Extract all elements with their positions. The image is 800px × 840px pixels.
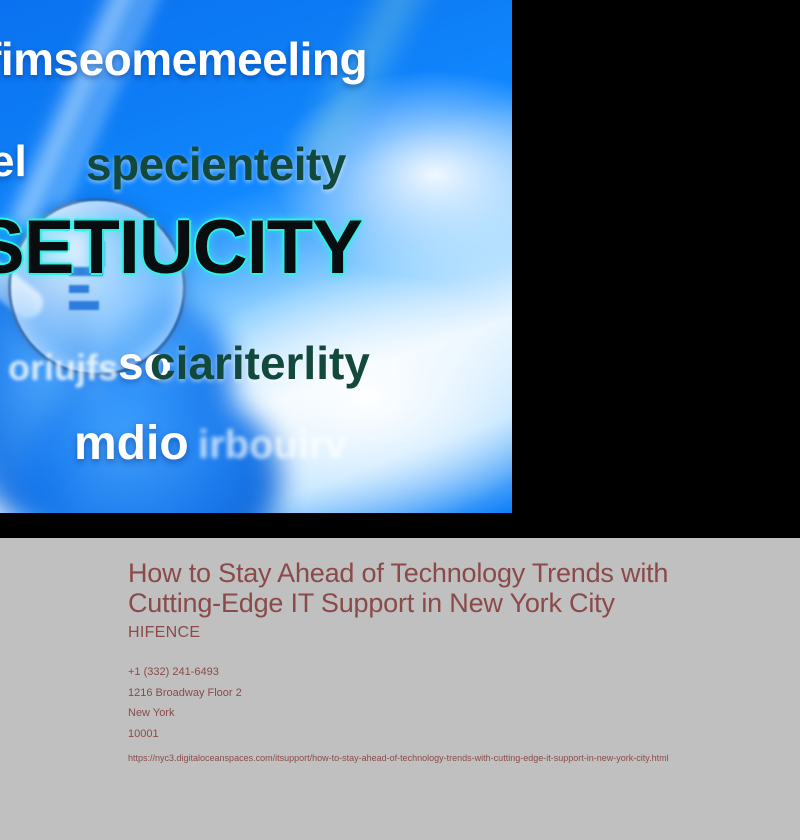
- hero-word-white-three: mdio: [74, 420, 189, 468]
- article-hero-image: fimseomemeeling el specienteity SETIUCIT…: [0, 0, 512, 513]
- contact-phone[interactable]: +1 (332) 241-6493: [128, 662, 740, 682]
- source-url-link[interactable]: https://nyc3.digitaloceanspaces.com/itsu…: [128, 750, 793, 767]
- hero-word-fragment: el: [0, 140, 27, 184]
- hero-word-top: fimseomemeeling: [0, 36, 367, 82]
- contact-postal-code: 10001: [128, 724, 740, 744]
- contact-street: 1216 Broadway Floor 2: [128, 683, 740, 703]
- hero-word-ghost-two: irbouirv: [198, 425, 347, 465]
- article-content-panel: How to Stay Ahead of Technology Trends w…: [0, 538, 800, 840]
- light-streak-icon: [48, 0, 190, 212]
- page-title: How to Stay Ahead of Technology Trends w…: [128, 558, 738, 618]
- contact-city: New York: [128, 703, 740, 723]
- hero-word-green-two: ciariterlity: [150, 340, 370, 386]
- hero-image-region: fimseomemeeling el specienteity SETIUCIT…: [0, 0, 800, 538]
- light-streak-icon: [285, 0, 445, 174]
- brand-name: HIFENCE: [128, 624, 740, 642]
- contact-block: +1 (332) 241-6493 1216 Broadway Floor 2 …: [128, 662, 740, 743]
- blurred-figure-shape: [20, 380, 280, 513]
- magnifier-glass-icon: [8, 198, 186, 376]
- hero-word-green-one: specienteity: [86, 141, 346, 187]
